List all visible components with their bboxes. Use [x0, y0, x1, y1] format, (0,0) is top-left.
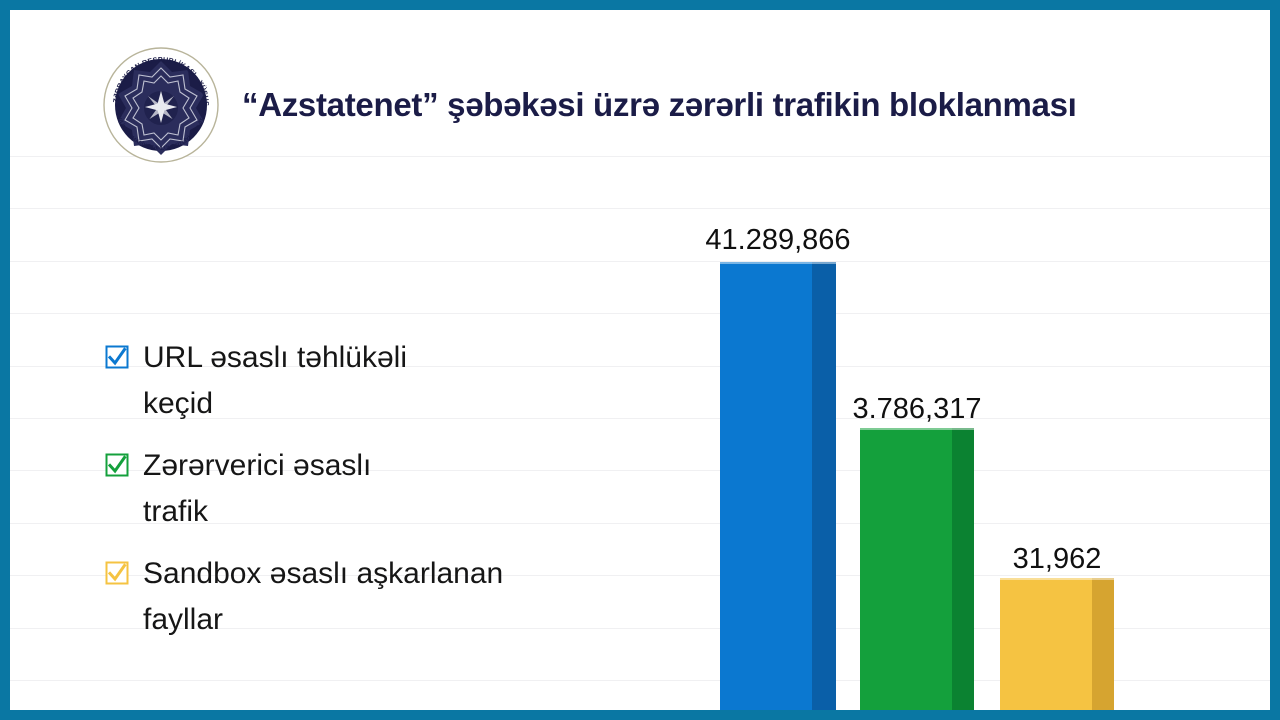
bar-top-highlight — [720, 262, 836, 264]
bar-front-face — [1000, 578, 1114, 710]
slide-canvas: AZƌRBAYCAN RESPUBLİKASI · XÜSUSİ RABİTƌ … — [10, 10, 1270, 710]
bar-column[interactable] — [860, 428, 974, 710]
state-service-emblem-icon: AZƌRBAYCAN RESPUBLİKASI · XÜSUSİ RABİTƌ … — [102, 46, 220, 164]
bar-front-face — [720, 262, 836, 710]
legend-item-malware[interactable]: Zərərverici əsaslı trafik — [105, 443, 685, 535]
bar-value-label: 3.786,317 — [820, 393, 1014, 426]
gridline — [10, 313, 1270, 314]
bar-top-highlight — [1000, 578, 1114, 580]
bar-front-face — [860, 428, 974, 710]
bar-side-face — [1092, 578, 1114, 710]
bar-value-label: 41.289,866 — [680, 224, 876, 257]
legend-item-url[interactable]: URL əsaslı təhlükəli keçid — [105, 335, 685, 427]
gridline — [10, 208, 1270, 209]
legend-label-line1: URL əsaslı təhlükəli — [143, 341, 407, 374]
legend-label-line1: Sandbox əsaslı aşkarlanan — [143, 557, 503, 590]
bar-top-highlight — [860, 428, 974, 430]
slide-root: AZƌRBAYCAN RESPUBLİKASI · XÜSUSİ RABİTƌ … — [0, 0, 1280, 720]
bar-value-label: 31,962 — [960, 543, 1154, 576]
legend-label-line2: keçid — [143, 387, 213, 420]
legend-label-line1: Zərərverici əsaslı — [143, 449, 371, 482]
gridline — [10, 261, 1270, 262]
legend-item-label: Zərərverici əsaslı trafik — [143, 443, 371, 535]
bar-column[interactable] — [1000, 578, 1114, 710]
gridline — [10, 680, 1270, 681]
legend-item-label: Sandbox əsaslı aşkarlanan fayllar — [143, 551, 503, 643]
checkbox-checked-icon[interactable] — [105, 561, 129, 585]
legend-item-label: URL əsaslı təhlükəli keçid — [143, 335, 407, 427]
bar-column[interactable] — [720, 262, 836, 710]
page-title: “Azstatenet” şəbəkəsi üzrə zərərli trafi… — [242, 86, 1242, 124]
legend-item-sandbox[interactable]: Sandbox əsaslı aşkarlanan fayllar — [105, 551, 685, 643]
bar-side-face — [952, 428, 974, 710]
checkbox-checked-icon[interactable] — [105, 345, 129, 369]
legend-label-line2: fayllar — [143, 603, 223, 636]
legend-label-line2: trafik — [143, 495, 208, 528]
slide-header: AZƌRBAYCAN RESPUBLİKASI · XÜSUSİ RABİTƌ … — [10, 10, 1270, 155]
checkbox-checked-icon[interactable] — [105, 453, 129, 477]
chart-legend: URL əsaslı təhlükəli keçid Zərərverici ə… — [105, 335, 685, 659]
bar-side-face — [812, 262, 836, 710]
